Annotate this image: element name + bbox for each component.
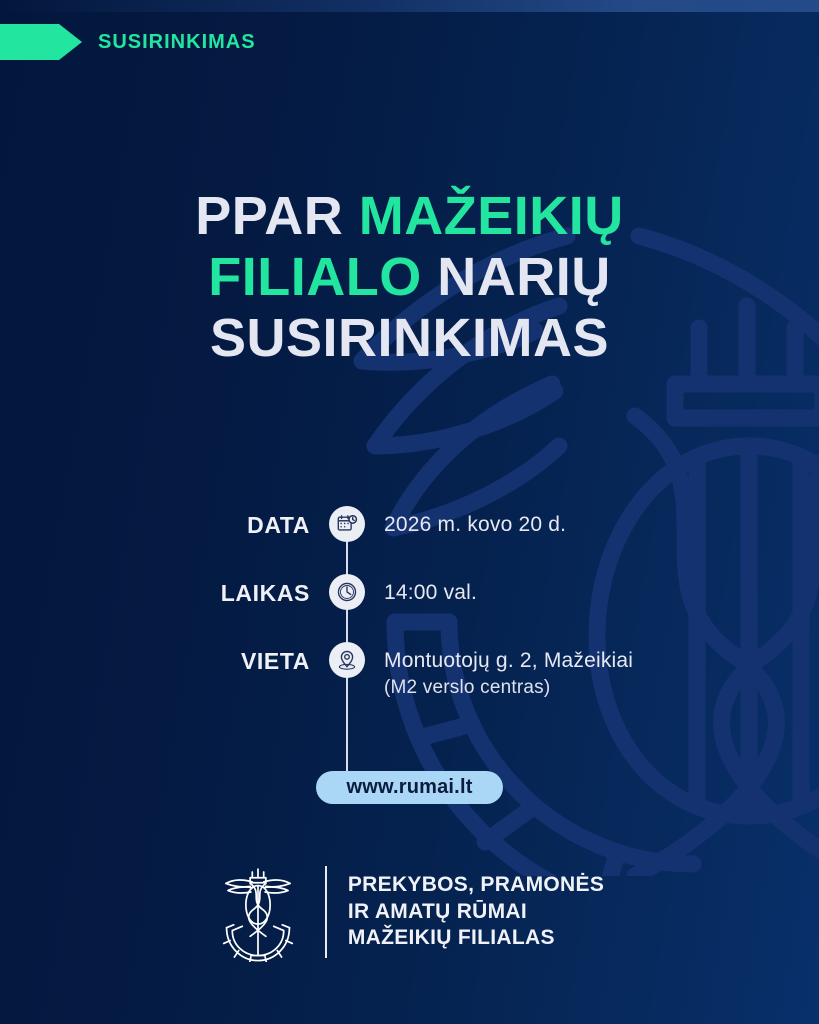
detail-value-laikas: 14:00 val. [384,568,477,607]
detail-row-data: DATA [0,500,819,568]
detail-value-laikas-main: 14:00 val. [384,581,477,604]
footer-organization-name: PREKYBOS, PRAMONĖS IR AMATŲ RŪMAI MAŽEIK… [348,872,604,953]
headline-line-2-white: NARIŲ [437,247,611,307]
clock-icon [329,574,365,610]
footer-line-1: PREKYBOS, PRAMONĖS [348,872,604,899]
website-button[interactable]: www.rumai.lt [316,771,503,804]
detail-icon-slot-laikas [310,568,384,610]
detail-row-vieta: VIETA Montuotojų g. 2, Mažeikiai (M2 ver… [0,636,819,704]
detail-label-vieta: VIETA [0,636,310,675]
headline-line-2-green: FILIALO [208,247,437,307]
footer-branding: PREKYBOS, PRAMONĖS IR AMATŲ RŪMAI MAŽEIK… [0,862,819,962]
poster-canvas: SUSIRINKIMAS PPAR MAŽEIKIŲ FILIALO NARIŲ… [0,0,819,1024]
detail-label-laikas: LAIKAS [0,568,310,607]
detail-value-vieta-main: Montuotojų g. 2, Mažeikiai [384,649,633,672]
footer-line-2: IR AMATŲ RŪMAI [348,899,604,926]
page-title: PPAR MAŽEIKIŲ FILIALO NARIŲ SUSIRINKIMAS [0,186,819,369]
detail-value-vieta: Montuotojų g. 2, Mažeikiai (M2 verslo ce… [384,636,633,700]
detail-value-data: 2026 m. kovo 20 d. [384,500,566,539]
detail-value-data-main: 2026 m. kovo 20 d. [384,513,566,536]
headline-line-1-green: MAŽEIKIŲ [359,186,624,246]
headline-line-1: PPAR MAŽEIKIŲ [0,186,819,247]
headline-line-2: FILIALO NARIŲ [0,247,819,308]
website-button-label: www.rumai.lt [346,776,472,799]
caduceus-anchor-gear-emblem-icon [215,862,301,962]
detail-value-vieta-sub: (M2 verslo centras) [384,675,633,700]
location-pin-icon [329,642,365,678]
event-type-label: SUSIRINKIMAS [98,32,256,52]
detail-label-data: DATA [0,500,310,539]
footer-line-3: MAŽEIKIŲ FILIALAS [348,925,604,952]
headline-line-1-white: PPAR [195,186,359,246]
detail-row-laikas: LAIKAS 14:00 val. [0,568,819,636]
event-details-list: DATA [0,500,819,704]
calendar-icon [329,506,365,542]
arrow-tag-icon [0,24,82,60]
detail-icon-slot-data [310,500,384,542]
headline-line-3: SUSIRINKIMAS [0,308,819,369]
detail-icon-slot-vieta [310,636,384,678]
event-type-tag: SUSIRINKIMAS [0,24,256,60]
footer-divider [325,866,327,958]
